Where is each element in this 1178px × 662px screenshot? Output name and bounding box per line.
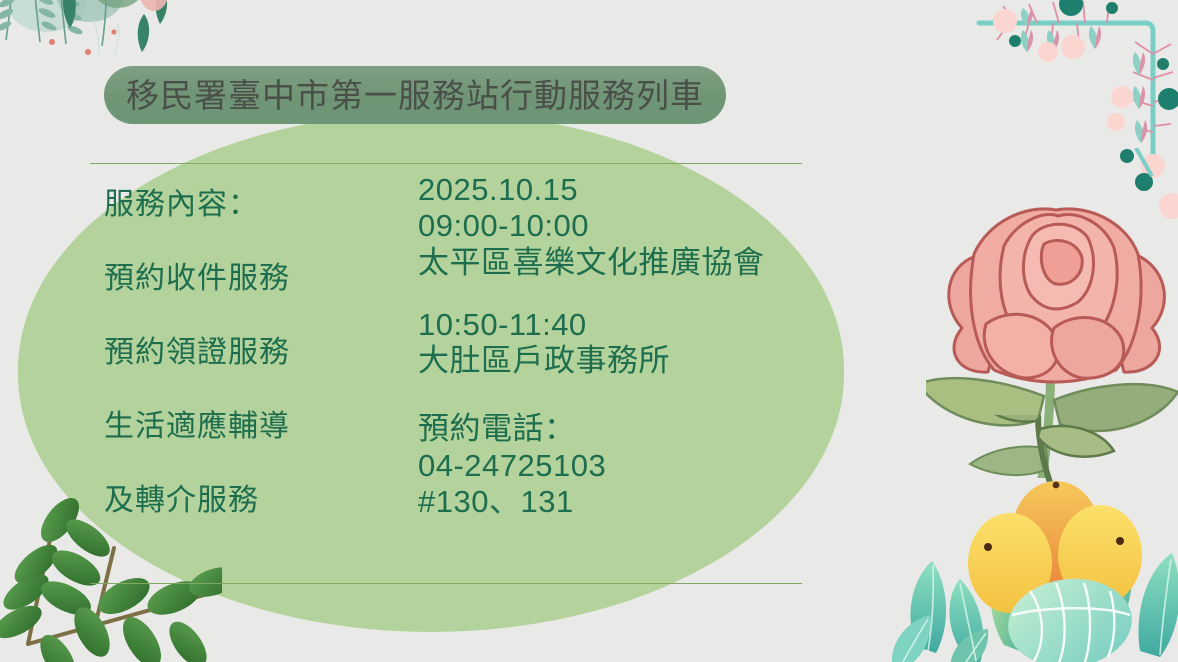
slot-2-location: 大肚區戶政事務所 (418, 343, 838, 379)
event-date: 2025.10.15 (418, 172, 838, 208)
schedule-slot-1: 2025.10.15 09:00-10:00 太平區喜樂文化推廣協會 (418, 172, 838, 281)
contact-block: 預約電話： 04-24725103 #130、131 (418, 411, 838, 520)
slot-2-time: 10:50-11:40 (418, 307, 838, 343)
contact-phone: 04-24725103 (418, 448, 838, 484)
services-heading: 服務內容： (104, 190, 404, 220)
services-column: 服務內容： 預約收件服務 預約領證服務 生活適應輔導 及轉介服務 (104, 190, 404, 516)
schedule-slot-2: 10:50-11:40 大肚區戶政事務所 (418, 307, 838, 380)
service-item-1: 預約收件服務 (104, 264, 404, 294)
service-item-2: 預約領證服務 (104, 338, 404, 368)
slot-1-time: 09:00-10:00 (418, 208, 838, 244)
schedule-column: 2025.10.15 09:00-10:00 太平區喜樂文化推廣協會 10:50… (418, 172, 838, 520)
poster-title: 移民署臺中市第一服務站行動服務列車 (126, 79, 704, 112)
service-item-4: 及轉介服務 (104, 486, 404, 516)
contact-label: 預約電話： (418, 411, 838, 447)
poster-title-banner: 移民署臺中市第一服務站行動服務列車 (104, 66, 726, 124)
poster-canvas: 移民署臺中市第一服務站行動服務列車 服務內容： 預約收件服務 預約領證服務 生活… (0, 0, 1178, 662)
slot-1-location: 太平區喜樂文化推廣協會 (418, 245, 838, 281)
service-item-3: 生活適應輔導 (104, 412, 404, 442)
contact-extensions: #130、131 (418, 484, 838, 520)
